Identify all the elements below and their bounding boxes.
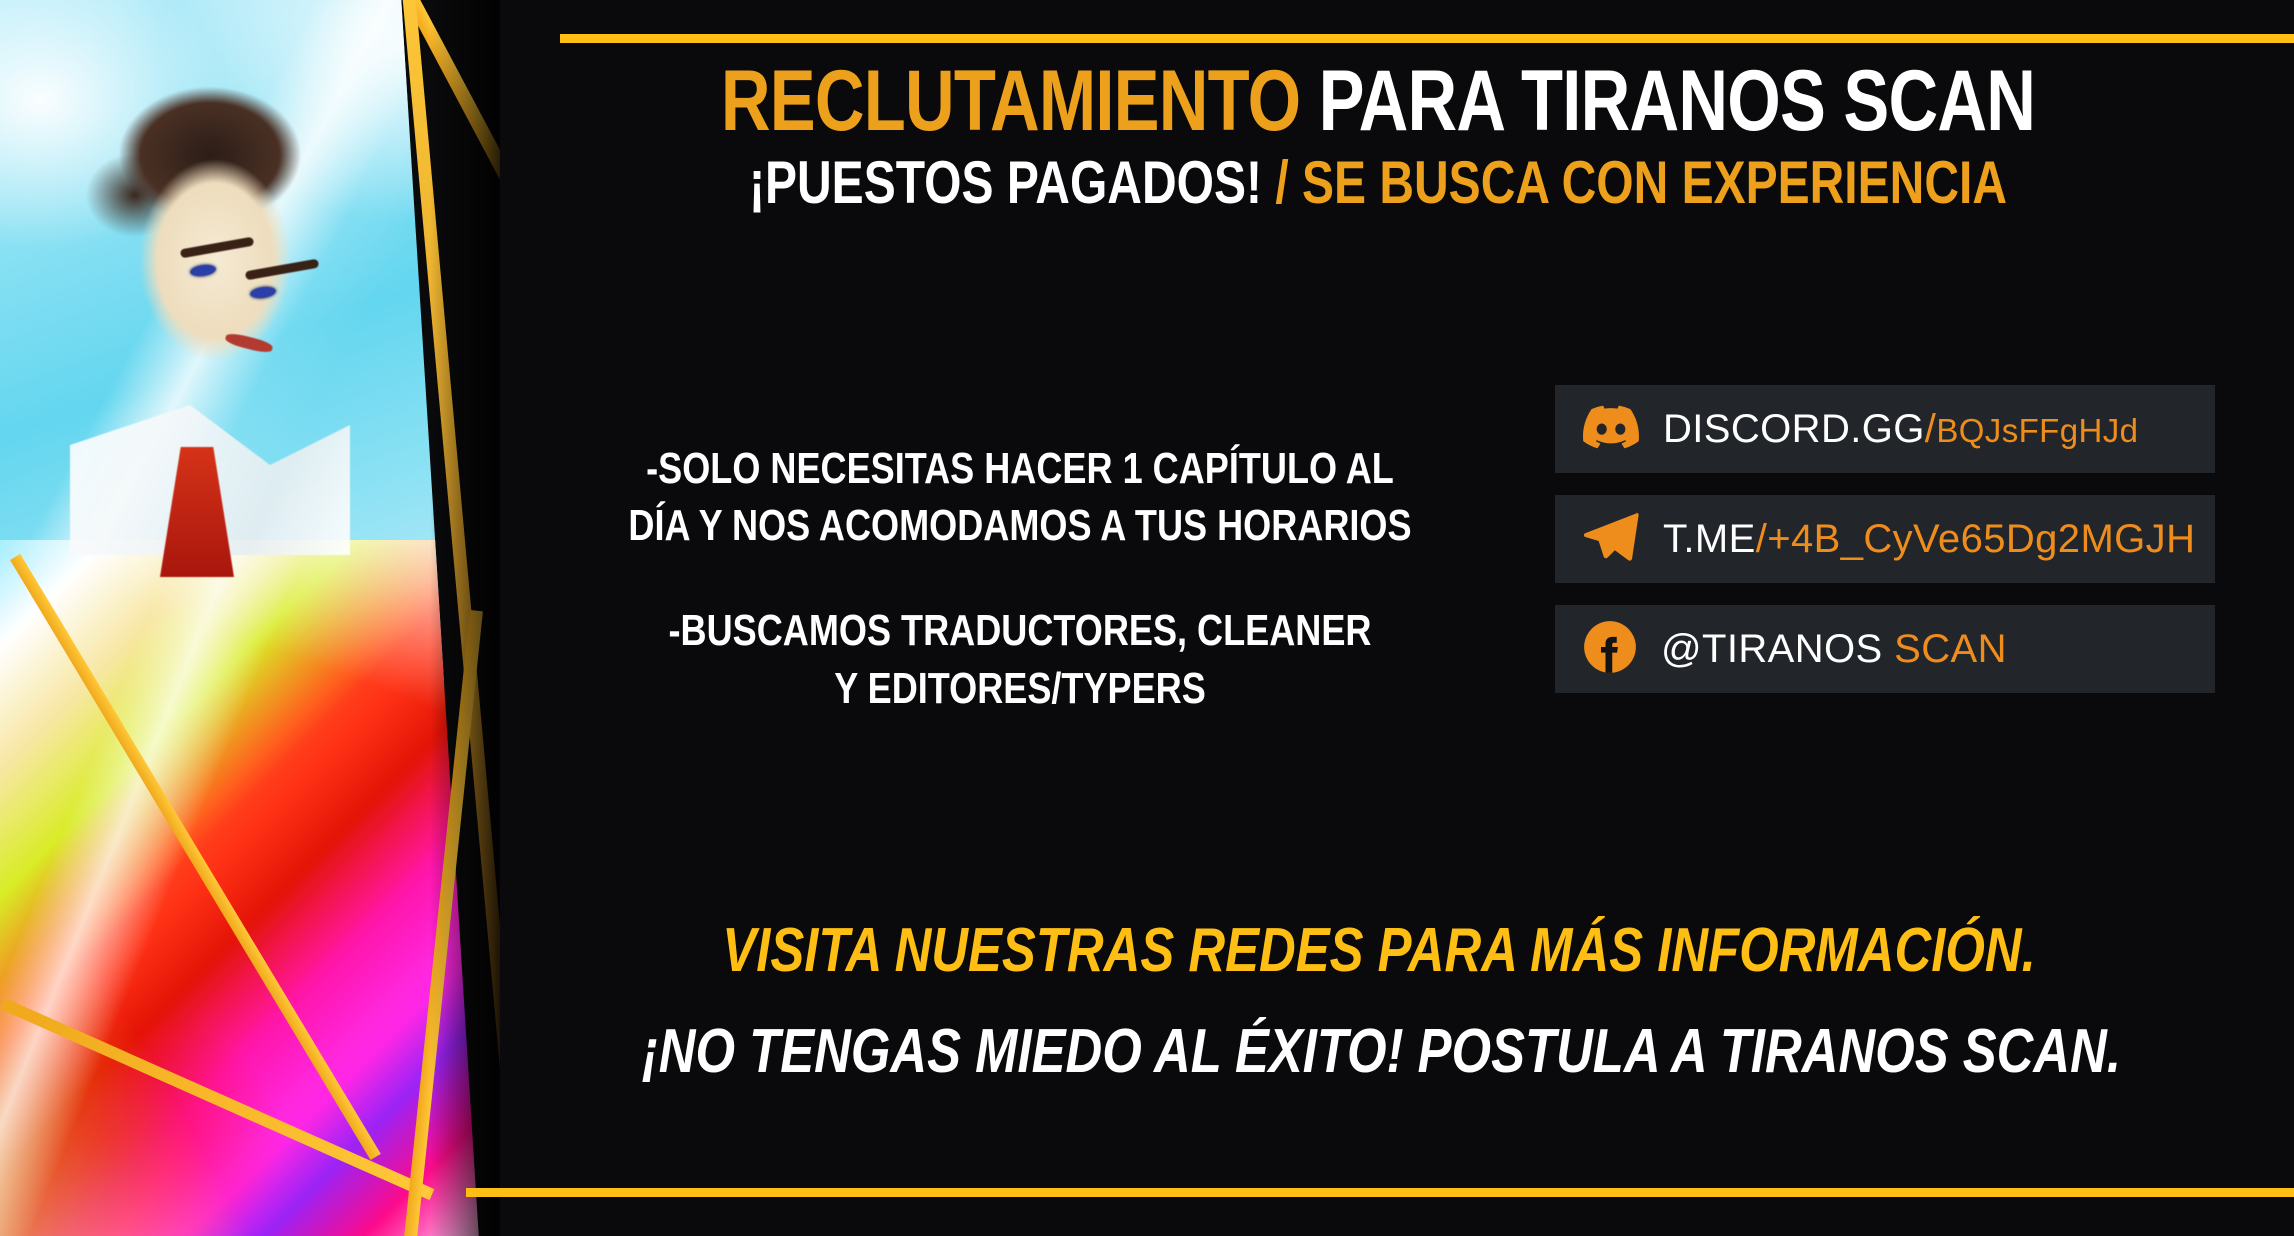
artwork-panel [0, 0, 500, 1236]
discord-code: BQJsFFgHJd [1936, 412, 2138, 449]
page-subtitle: ¡PUESTOS PAGADOS! / SE BUSCA CON EXPERIE… [660, 153, 2097, 213]
telegram-code: +4B_CyVe65Dg2MGJH [1767, 517, 2195, 561]
facebook-prefix: @TIRANOS [1661, 627, 1883, 671]
title-rest: PARA TIRANOS SCAN [1319, 53, 2035, 149]
title-highlight: RECLUTAMIENTO [721, 53, 1300, 149]
character-eye-right [249, 285, 276, 300]
facebook-icon [1583, 620, 1637, 679]
character-brow-left [180, 237, 254, 259]
bullet-2-line-2: Y EDITORES/TYPERS [585, 660, 1454, 717]
discord-prefix: DISCORD.GG [1663, 407, 1925, 451]
bullet-1-line-2: DÍA Y NOS ACOMODAMOS A TUS HORARIOS [585, 497, 1454, 554]
discord-link-text: DISCORD.GG/BQJsFFgHJd [1663, 407, 2138, 452]
contact-card-discord[interactable]: DISCORD.GG/BQJsFFgHJd [1555, 385, 2215, 473]
telegram-icon [1583, 512, 1639, 567]
cta-line-2: ¡NO TENGAS MIEDO AL ÉXITO! POSTULA A TIR… [642, 1016, 2116, 1087]
subtitle-white: ¡PUESTOS PAGADOS! [749, 149, 1262, 216]
character-brow-right [245, 259, 319, 281]
character-mouth [224, 331, 273, 354]
contact-card-facebook[interactable]: @TIRANOS SCAN [1555, 605, 2215, 693]
character-eye-left [189, 263, 216, 278]
discord-separator: / [1925, 407, 1937, 451]
contact-card-telegram[interactable]: T.ME/+4B_CyVe65Dg2MGJH [1555, 495, 2215, 583]
bullet-1-line-1: -SOLO NECESITAS HACER 1 CAPÍTULO AL [585, 440, 1454, 497]
telegram-link-text: T.ME/+4B_CyVe65Dg2MGJH [1663, 517, 2195, 562]
cta-line-1: VISITA NUESTRAS REDES PARA MÁS INFORMACI… [642, 915, 2116, 986]
artwork-character [40, 75, 370, 545]
facebook-separator [1883, 627, 1895, 671]
banner-root: RECLUTAMIENTO PARA TIRANOS SCAN ¡PUESTOS… [0, 0, 2294, 1236]
subtitle-orange: / SE BUSCA CON EXPERIENCIA [1275, 149, 2007, 216]
telegram-separator: / [1756, 517, 1768, 561]
facebook-link-text: @TIRANOS SCAN [1661, 627, 2007, 672]
telegram-prefix: T.ME [1663, 517, 1756, 561]
contact-card-list: DISCORD.GG/BQJsFFgHJd T.ME/+4B_CyVe65Dg2… [1555, 385, 2215, 715]
bullet-spacer [490, 554, 1550, 602]
discord-icon [1583, 405, 1639, 454]
bullet-2-line-1: -BUSCAMOS TRADUCTORES, CLEANER [585, 602, 1454, 659]
page-title: RECLUTAMIENTO PARA TIRANOS SCAN [660, 58, 2097, 144]
bullet-list: -SOLO NECESITAS HACER 1 CAPÍTULO AL DÍA … [490, 440, 1550, 717]
content-area: RECLUTAMIENTO PARA TIRANOS SCAN ¡PUESTOS… [480, 0, 2294, 1236]
facebook-handle: SCAN [1894, 627, 2007, 671]
